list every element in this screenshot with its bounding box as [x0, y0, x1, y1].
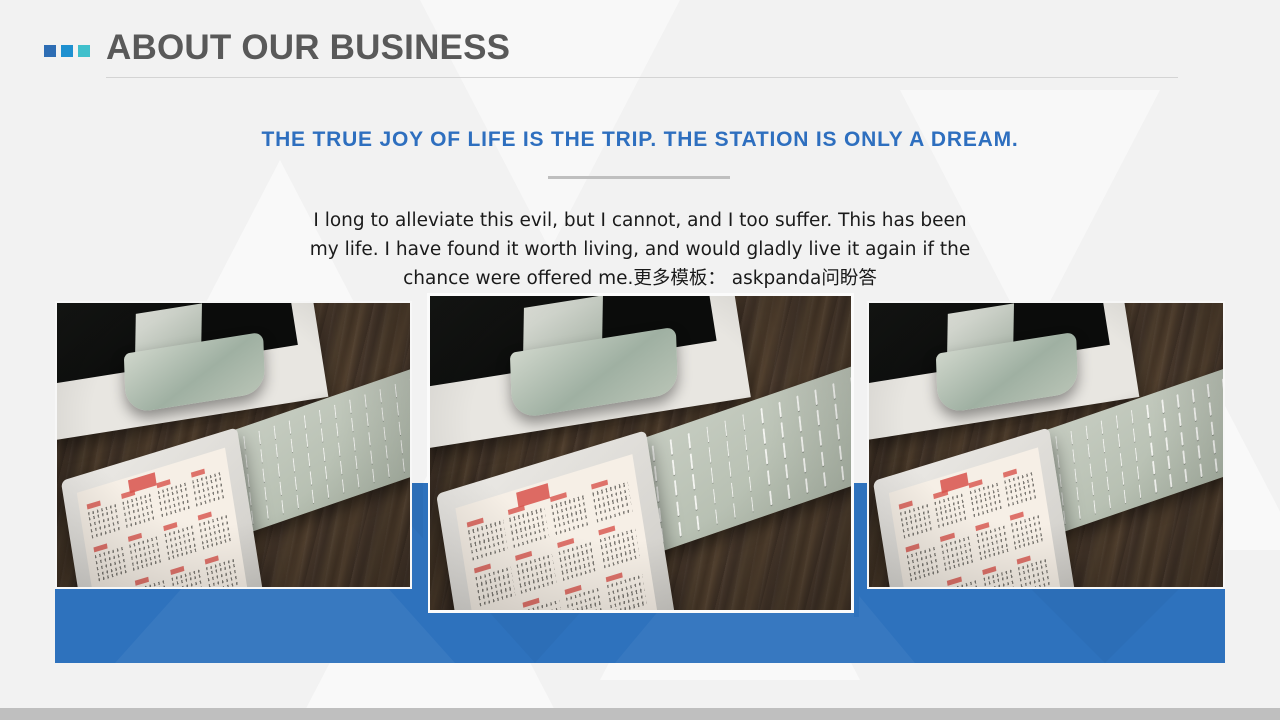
square-teal-icon [78, 45, 90, 57]
body-line-1: I long to alleviate this evil, but I can… [276, 206, 1004, 235]
photo-vignette [57, 303, 410, 587]
body-paragraph: I long to alleviate this evil, but I can… [276, 206, 1004, 293]
accent-squares [44, 45, 90, 57]
photo-panel-right[interactable] [867, 301, 1225, 589]
square-dark-blue-icon [44, 45, 56, 57]
square-blue-icon [61, 45, 73, 57]
photo-vignette [430, 296, 851, 610]
page-title: ABOUT OUR BUSINESS [106, 28, 510, 68]
section-subtitle: THE TRUE JOY OF LIFE IS THE TRIP. THE ST… [0, 128, 1280, 152]
body-line-2: my life. I have found it worth living, a… [276, 235, 1004, 264]
subtitle-divider [548, 176, 730, 179]
slide: ABOUT OUR BUSINESS THE TRUE JOY OF LIFE … [0, 0, 1280, 720]
center-panel-left-accent [423, 483, 428, 617]
desk-photo [430, 296, 851, 610]
footer-strip [0, 708, 1280, 720]
body-line-3: chance were offered me.更多模板： askpanda问盼答 [276, 264, 1004, 293]
desk-photo [869, 303, 1223, 587]
photo-panel-center[interactable] [427, 293, 854, 613]
photo-panel-left[interactable] [55, 301, 412, 589]
slide-header: ABOUT OUR BUSINESS [0, 0, 1280, 80]
center-panel-right-accent [854, 483, 859, 617]
title-divider [106, 77, 1178, 78]
desk-photo [57, 303, 410, 587]
photo-vignette [869, 303, 1223, 587]
